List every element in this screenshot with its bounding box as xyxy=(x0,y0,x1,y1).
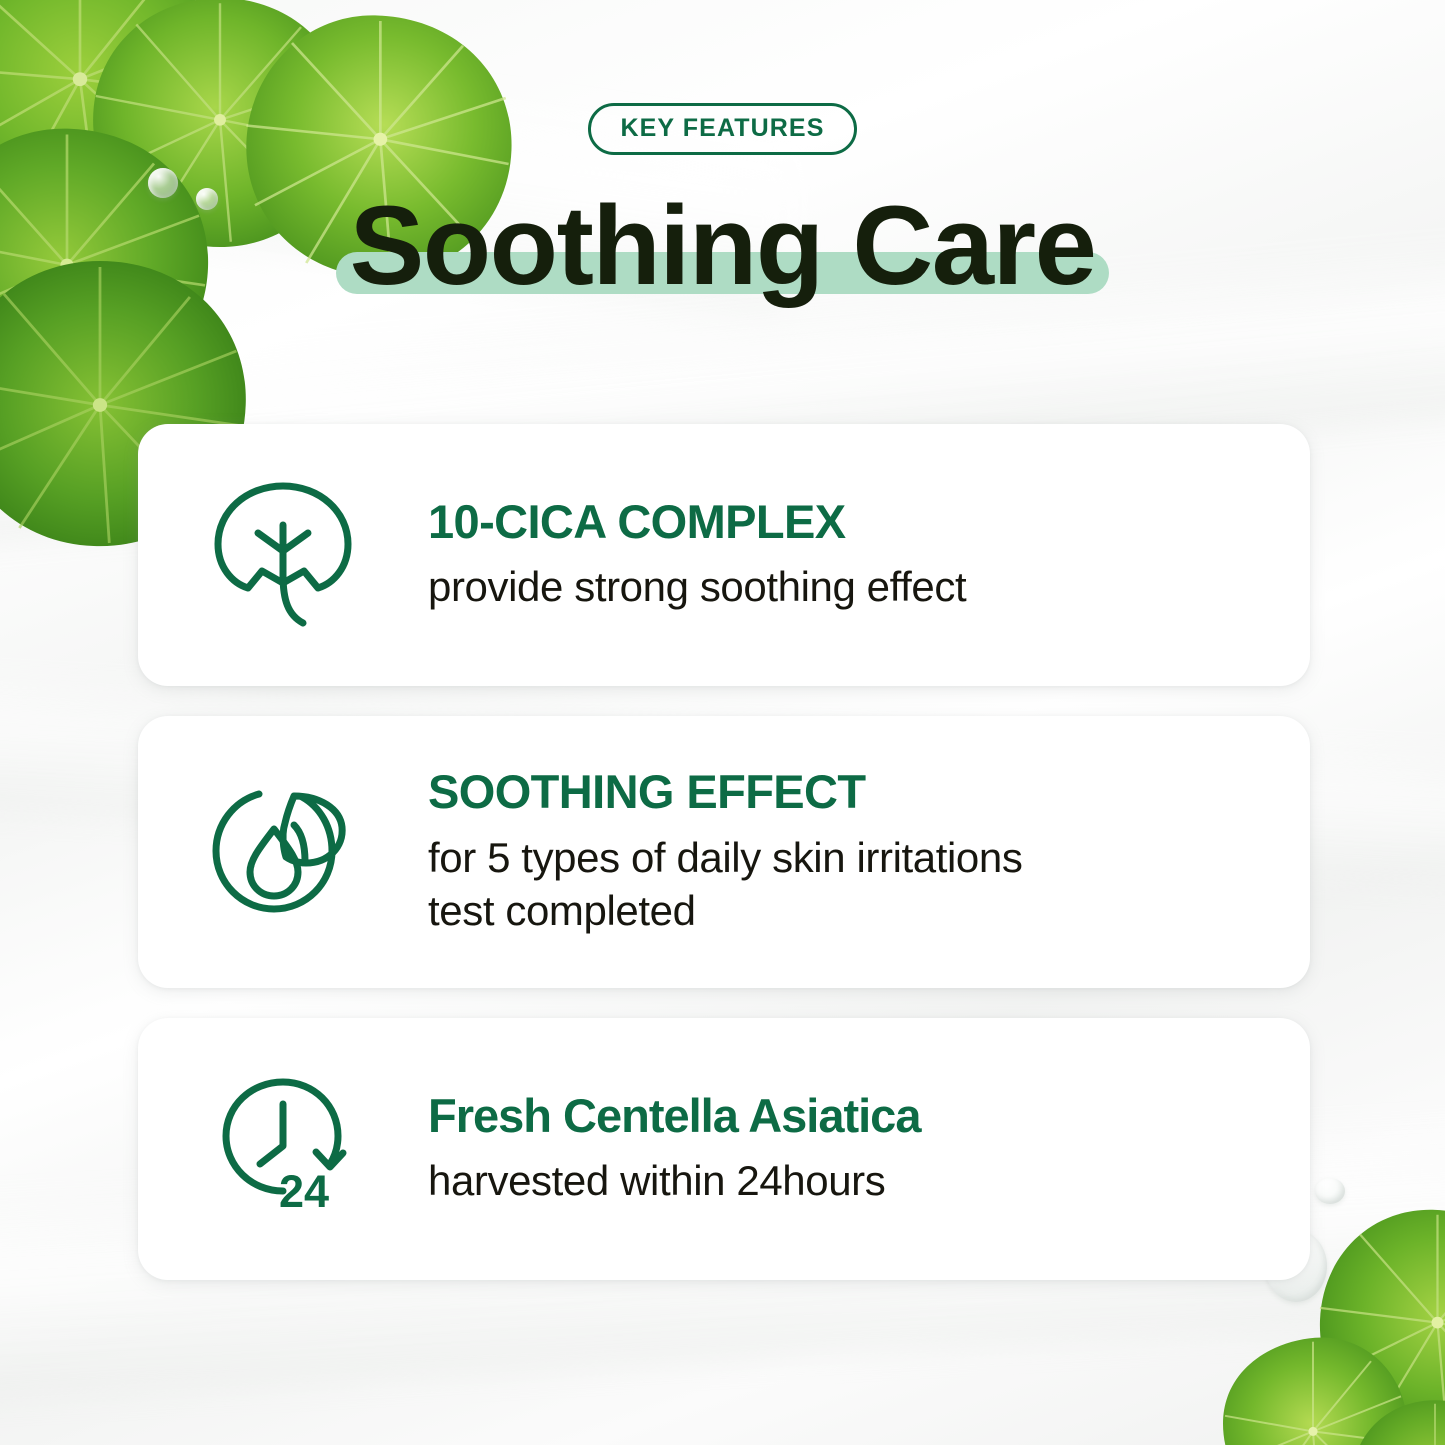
key-features-badge-container: KEY FEATURES xyxy=(0,103,1445,155)
feature-text-container: SOOTHING EFFECT for 5 types of daily ski… xyxy=(428,766,1310,938)
headline: Soothing Care xyxy=(336,190,1110,302)
key-features-badge: KEY FEATURES xyxy=(588,103,858,155)
water-droplet xyxy=(1315,1178,1345,1204)
feature-text-container: Fresh Centella Asiatica harvested within… xyxy=(428,1090,1310,1208)
infographic-canvas: KEY FEATURES Soothing Care xyxy=(0,0,1445,1445)
feature-card: 10-CICA COMPLEX provide strong soothing … xyxy=(138,424,1310,686)
feature-icon-container xyxy=(138,475,428,635)
feature-icon-container: 24 xyxy=(138,1074,428,1224)
feature-icon-container xyxy=(138,775,428,930)
centella-leaf-icon xyxy=(208,475,358,635)
feature-title: Fresh Centella Asiatica xyxy=(428,1090,1270,1143)
feature-card: SOOTHING EFFECT for 5 types of daily ski… xyxy=(138,716,1310,988)
centella-leaf-image xyxy=(1215,1330,1415,1445)
feature-description-line: harvested within 24hours xyxy=(428,1154,1270,1208)
feature-text-container: 10-CICA COMPLEX provide strong soothing … xyxy=(428,496,1310,614)
feature-title: SOOTHING EFFECT xyxy=(428,766,1270,819)
headline-text: Soothing Care xyxy=(350,183,1096,308)
feature-card: 24 Fresh Centella Asiatica harvested wit… xyxy=(138,1018,1310,1280)
feature-card-list: 10-CICA COMPLEX provide strong soothing … xyxy=(138,424,1310,1280)
headline-container: Soothing Care xyxy=(0,190,1445,302)
feature-description: for 5 types of daily skin irritations te… xyxy=(428,831,1270,939)
clock-24-icon: 24 xyxy=(208,1074,358,1224)
droplet-leaf-icon xyxy=(206,775,361,930)
feature-description: provide strong soothing effect xyxy=(428,560,1270,614)
feature-description-line: provide strong soothing effect xyxy=(428,560,1270,614)
feature-title: 10-CICA COMPLEX xyxy=(428,496,1270,549)
feature-description: harvested within 24hours xyxy=(428,1154,1270,1208)
feature-description-line: test completed xyxy=(428,884,1270,938)
feature-description-line: for 5 types of daily skin irritations xyxy=(428,831,1270,885)
clock-hours-label: 24 xyxy=(279,1166,329,1217)
centella-leaf-image xyxy=(1310,1205,1445,1445)
centella-leaf-image xyxy=(1345,1395,1445,1445)
